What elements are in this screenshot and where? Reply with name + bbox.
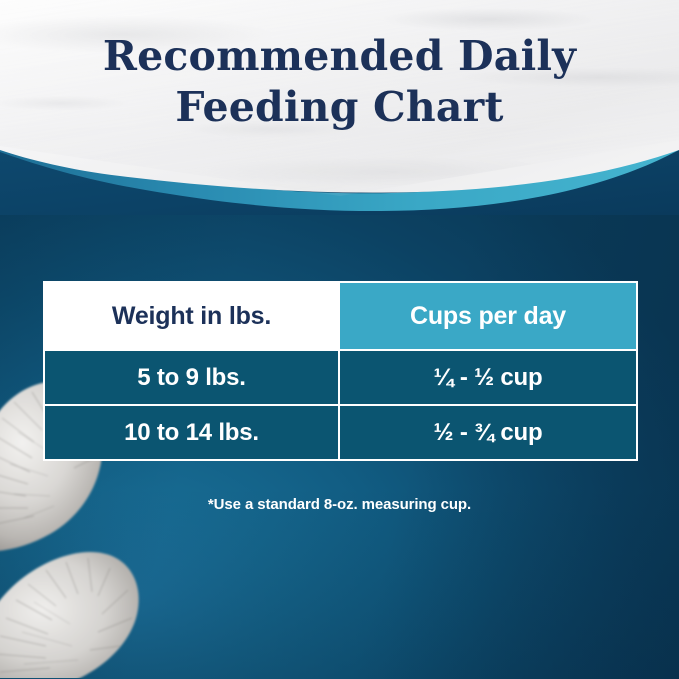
feeding-chart-page: Recommended Daily Feeding Chart	[0, 0, 679, 679]
feeding-table: Weight in lbs. Cups per day 5 to 9 lbs. …	[43, 281, 638, 461]
cell-weight-row-2: 10 to 14 lbs.	[45, 406, 340, 459]
cell-cups-row-1: ¼ - ½ cup	[340, 351, 636, 404]
table-row: 5 to 9 lbs. ¼ - ½ cup	[45, 349, 636, 404]
title-line-2: Feeding Chart	[0, 82, 679, 133]
cell-weight-row-1: 5 to 9 lbs.	[45, 351, 340, 404]
table-header-cups: Cups per day	[340, 283, 636, 349]
cell-cups-row-2: ½ - ¾ cup	[340, 406, 636, 459]
title-line-1: Recommended Daily	[0, 31, 679, 82]
table-header-row: Weight in lbs. Cups per day	[45, 283, 636, 349]
page-title: Recommended Daily Feeding Chart	[0, 31, 679, 133]
footnote-text: *Use a standard 8-oz. measuring cup.	[0, 496, 679, 513]
table-header-weight: Weight in lbs.	[45, 283, 340, 349]
table-row: 10 to 14 lbs. ½ - ¾ cup	[45, 404, 636, 459]
